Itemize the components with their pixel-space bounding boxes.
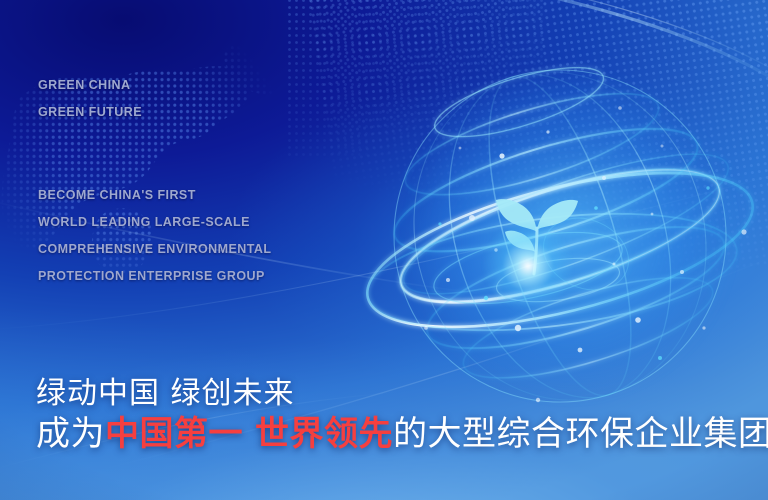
slogan-en-line-4: PROTECTION ENTERPRISE GROUP — [38, 263, 271, 290]
headline-highlight-china-first: 中国第一 — [105, 414, 243, 454]
tagline-line-2: GREEN FUTURE — [38, 99, 142, 126]
banner-root: GREEN CHINA GREEN FUTURE BECOME CHINA'S … — [0, 0, 768, 500]
slogan-en-line-2: WORLD LEADING LARGE-SCALE — [38, 209, 271, 236]
headline-highlight-world-leading: 世界领先 — [255, 414, 393, 454]
slogan-en-line-3: COMPREHENSIVE ENVIRONMENTAL — [38, 236, 271, 263]
slogan-en-block: BECOME CHINA'S FIRST WORLD LEADING LARGE… — [38, 182, 271, 290]
headline-suffix: 的大型综合环保企业集团 — [393, 414, 768, 454]
headline-prefix: 成为 — [36, 414, 105, 454]
headline-line-2: 成为中国第一世界领先的大型综合环保企业集团 — [36, 406, 768, 455]
tagline-line-1: GREEN CHINA — [38, 72, 142, 99]
tagline-block: GREEN CHINA GREEN FUTURE — [38, 72, 142, 126]
slogan-en-line-1: BECOME CHINA'S FIRST — [38, 182, 271, 209]
